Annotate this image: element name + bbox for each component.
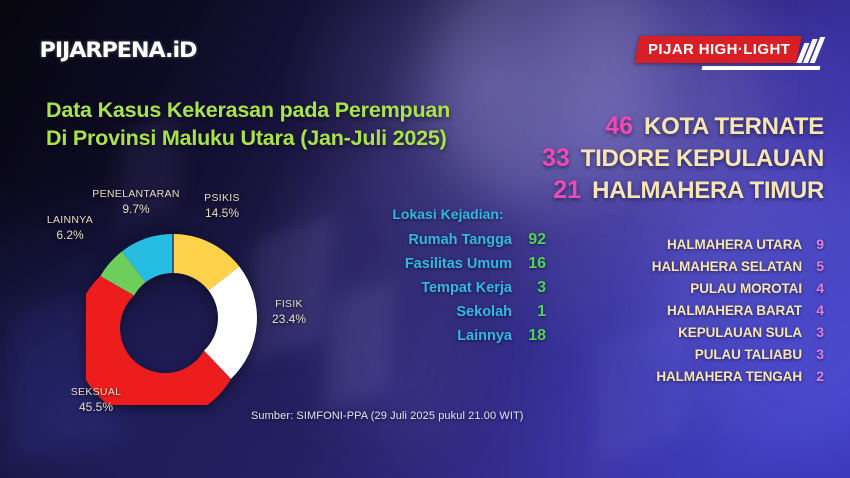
region-count: 4 (802, 302, 824, 318)
page-title-line2: Di Provinsi Maluku Utara (Jan-Juli 2025) (46, 124, 450, 152)
incident-location-name: Fasilitas Umum (405, 256, 512, 272)
incident-location-value: 1 (512, 303, 546, 321)
donut-label-seksual: SEKSUAL 45.5% (54, 386, 138, 414)
region-name: HALMAHERA UTARA (667, 237, 802, 252)
incident-location-value: 3 (512, 279, 546, 297)
region-count: 46 (605, 112, 633, 141)
list-item: Tempat Kerja 3 (350, 279, 546, 297)
list-item: Fasilitas Umum 16 (350, 255, 546, 273)
highlight-badge-label: PIJAR HIGH·LIGHT (648, 41, 790, 58)
infographic-poster: PIJARPENA.iD PIJAR HIGH·LIGHT Data Kasus… (0, 0, 850, 478)
incident-location-value: 18 (512, 327, 546, 345)
highlight-underline (702, 66, 821, 70)
highlight-badge: PIJAR HIGH·LIGHT (637, 36, 820, 63)
region-name: KEPULAUAN SULA (678, 325, 802, 340)
list-item: HALMAHERA TENGAH 2 (652, 368, 824, 384)
highlight-slashes-icon (798, 37, 822, 63)
region-count: 21 (553, 176, 581, 205)
region-name: PULAU TALIABU (695, 347, 802, 362)
incident-location-value: 92 (512, 231, 546, 249)
list-item: KEPULAUAN SULA 3 (652, 324, 824, 340)
region-name: HALMAHERA SELATAN (652, 259, 802, 274)
donut-label-seksual-percent: 45.5% (54, 400, 138, 414)
donut-label-psikis-percent: 14.5% (192, 206, 252, 220)
region-name: HALMAHERA TENGAH (656, 369, 802, 384)
region-count: 2 (802, 368, 824, 384)
list-item: HALMAHERA UTARA 9 (652, 236, 824, 252)
incident-location-panel: Lokasi Kejadian: Rumah Tangga 92 Fasilit… (350, 206, 546, 351)
list-item: HALMAHERA SELATAN 5 (652, 258, 824, 274)
publisher-logo: PIJARPENA.iD (40, 38, 197, 62)
incident-location-name: Sekolah (456, 304, 512, 320)
region-name: HALMAHERA BARAT (667, 303, 802, 318)
violence-type-donut-chart (86, 231, 260, 405)
incident-location-heading: Lokasi Kejadian: (350, 206, 546, 222)
list-item: 46 KOTA TERNATE (542, 112, 824, 141)
list-item: 33 TIDORE KEPULAUAN (542, 144, 824, 173)
list-item: 21 HALMAHERA TIMUR (542, 176, 824, 205)
highlight-badge-label-box: PIJAR HIGH·LIGHT (634, 36, 801, 63)
donut-label-lainnya: LAINNYA 6.2% (34, 214, 106, 242)
region-name: HALMAHERA TIMUR (592, 177, 824, 205)
list-item: Sekolah 1 (350, 303, 546, 321)
top-regions-panel: 46 KOTA TERNATE 33 TIDORE KEPULAUAN 21 H… (542, 112, 824, 208)
list-item: PULAU TALIABU 3 (652, 346, 824, 362)
region-count: 3 (802, 324, 824, 340)
source-note: Sumber: SIMFONI-PPA (29 Juli 2025 pukul … (251, 410, 524, 422)
region-name: PULAU MOROTAI (690, 281, 802, 296)
region-count: 33 (542, 144, 570, 173)
incident-location-name: Tempat Kerja (421, 280, 512, 296)
region-count: 3 (802, 346, 824, 362)
incident-location-value: 16 (512, 255, 546, 273)
incident-location-name: Lainnya (457, 328, 512, 344)
donut-label-psikis-name: PSIKIS (192, 192, 252, 205)
region-count: 9 (802, 236, 824, 252)
donut-label-fisik: FISIK 23.4% (258, 298, 320, 326)
donut-label-fisik-percent: 23.4% (258, 312, 320, 326)
region-name: TIDORE KEPULAUAN (581, 145, 824, 173)
other-regions-panel: HALMAHERA UTARA 9 HALMAHERA SELATAN 5 PU… (652, 236, 824, 390)
donut-label-lainnya-name: LAINNYA (34, 214, 106, 227)
incident-location-name: Rumah Tangga (408, 232, 512, 248)
region-count: 5 (802, 258, 824, 274)
list-item: HALMAHERA BARAT 4 (652, 302, 824, 318)
region-count: 4 (802, 280, 824, 296)
list-item: Lainnya 18 (350, 327, 546, 345)
list-item: Rumah Tangga 92 (350, 231, 546, 249)
donut-label-penelantaran: PENELANTARAN 9.7% (78, 188, 194, 216)
page-title-line1: Data Kasus Kekerasan pada Perempuan (46, 96, 450, 124)
donut-label-lainnya-percent: 6.2% (34, 228, 106, 242)
donut-label-seksual-name: SEKSUAL (54, 386, 138, 399)
page-title: Data Kasus Kekerasan pada Perempuan Di P… (46, 96, 450, 153)
donut-label-psikis: PSIKIS 14.5% (192, 192, 252, 220)
donut-label-penelantaran-name: PENELANTARAN (78, 188, 194, 201)
region-name: KOTA TERNATE (644, 113, 824, 141)
list-item: PULAU MOROTAI 4 (652, 280, 824, 296)
donut-label-fisik-name: FISIK (258, 298, 320, 311)
